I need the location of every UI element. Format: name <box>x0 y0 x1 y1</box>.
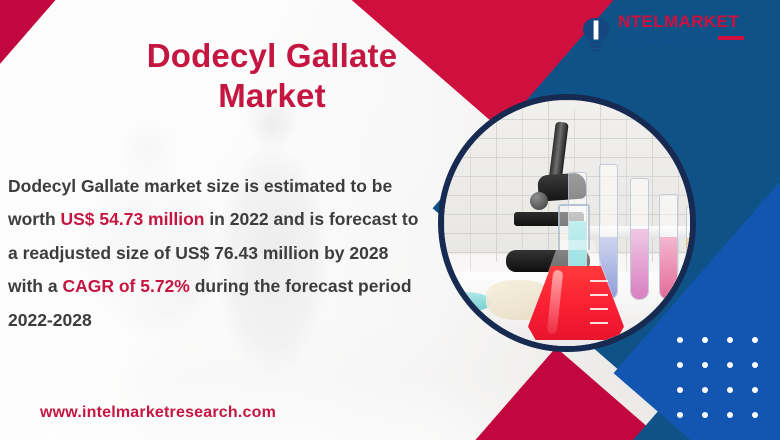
grid-dot <box>727 362 733 368</box>
dot-grid-decoration <box>677 337 758 418</box>
laboratory-photo <box>444 100 690 346</box>
grid-dot <box>752 387 758 393</box>
page-title: Dodecyl Gallate Market <box>92 36 452 117</box>
flask-graduation-mark <box>590 294 608 296</box>
cagr-value: CAGR of 5.72% <box>62 276 189 296</box>
grid-dot <box>677 387 683 393</box>
logo-primary-text: NTELMARKET <box>618 13 744 30</box>
grid-dot <box>727 412 733 418</box>
logo-secondary-text: RESEARCH <box>618 33 711 49</box>
grid-dot <box>727 387 733 393</box>
grid-dot <box>702 412 708 418</box>
lightbulb-icon <box>581 10 611 52</box>
grid-dot <box>677 412 683 418</box>
petri-dish <box>438 292 492 312</box>
grid-dot <box>702 387 708 393</box>
logo-wordmark: NTELMARKET RESEARCH <box>618 13 744 49</box>
website-url[interactable]: www.intelmarketresearch.com <box>40 404 276 422</box>
flask-graduation-mark <box>590 322 608 324</box>
lab-photo-circle <box>438 94 696 352</box>
grid-dot <box>752 362 758 368</box>
brand-logo[interactable]: NTELMARKET RESEARCH <box>581 10 744 52</box>
grid-dot <box>752 337 758 343</box>
title-line-1: Dodecyl Gallate <box>92 36 452 76</box>
double-bar-icon <box>718 36 744 47</box>
grid-dot <box>702 337 708 343</box>
grid-dot <box>752 412 758 418</box>
title-line-2: Market <box>92 76 452 116</box>
test-tube-icon <box>630 178 649 300</box>
marketing-banner: NTELMARKET RESEARCH Dodecyl Gallate Mark… <box>0 0 780 440</box>
grid-dot <box>677 337 683 343</box>
logo-secondary-row: RESEARCH <box>618 33 744 49</box>
flask-graduation-mark <box>590 308 608 310</box>
market-summary-text: Dodecyl Gallate market size is estimated… <box>8 170 420 338</box>
base-market-value: US$ 54.73 million <box>61 209 205 229</box>
erlenmeyer-flask-icon <box>528 204 624 340</box>
test-tube-icon <box>659 194 678 300</box>
flask-neck <box>558 204 590 250</box>
grid-dot <box>677 362 683 368</box>
grid-dot <box>727 337 733 343</box>
flask-graduation-mark <box>590 280 608 282</box>
flask-red-liquid <box>528 266 624 340</box>
grid-dot <box>702 362 708 368</box>
